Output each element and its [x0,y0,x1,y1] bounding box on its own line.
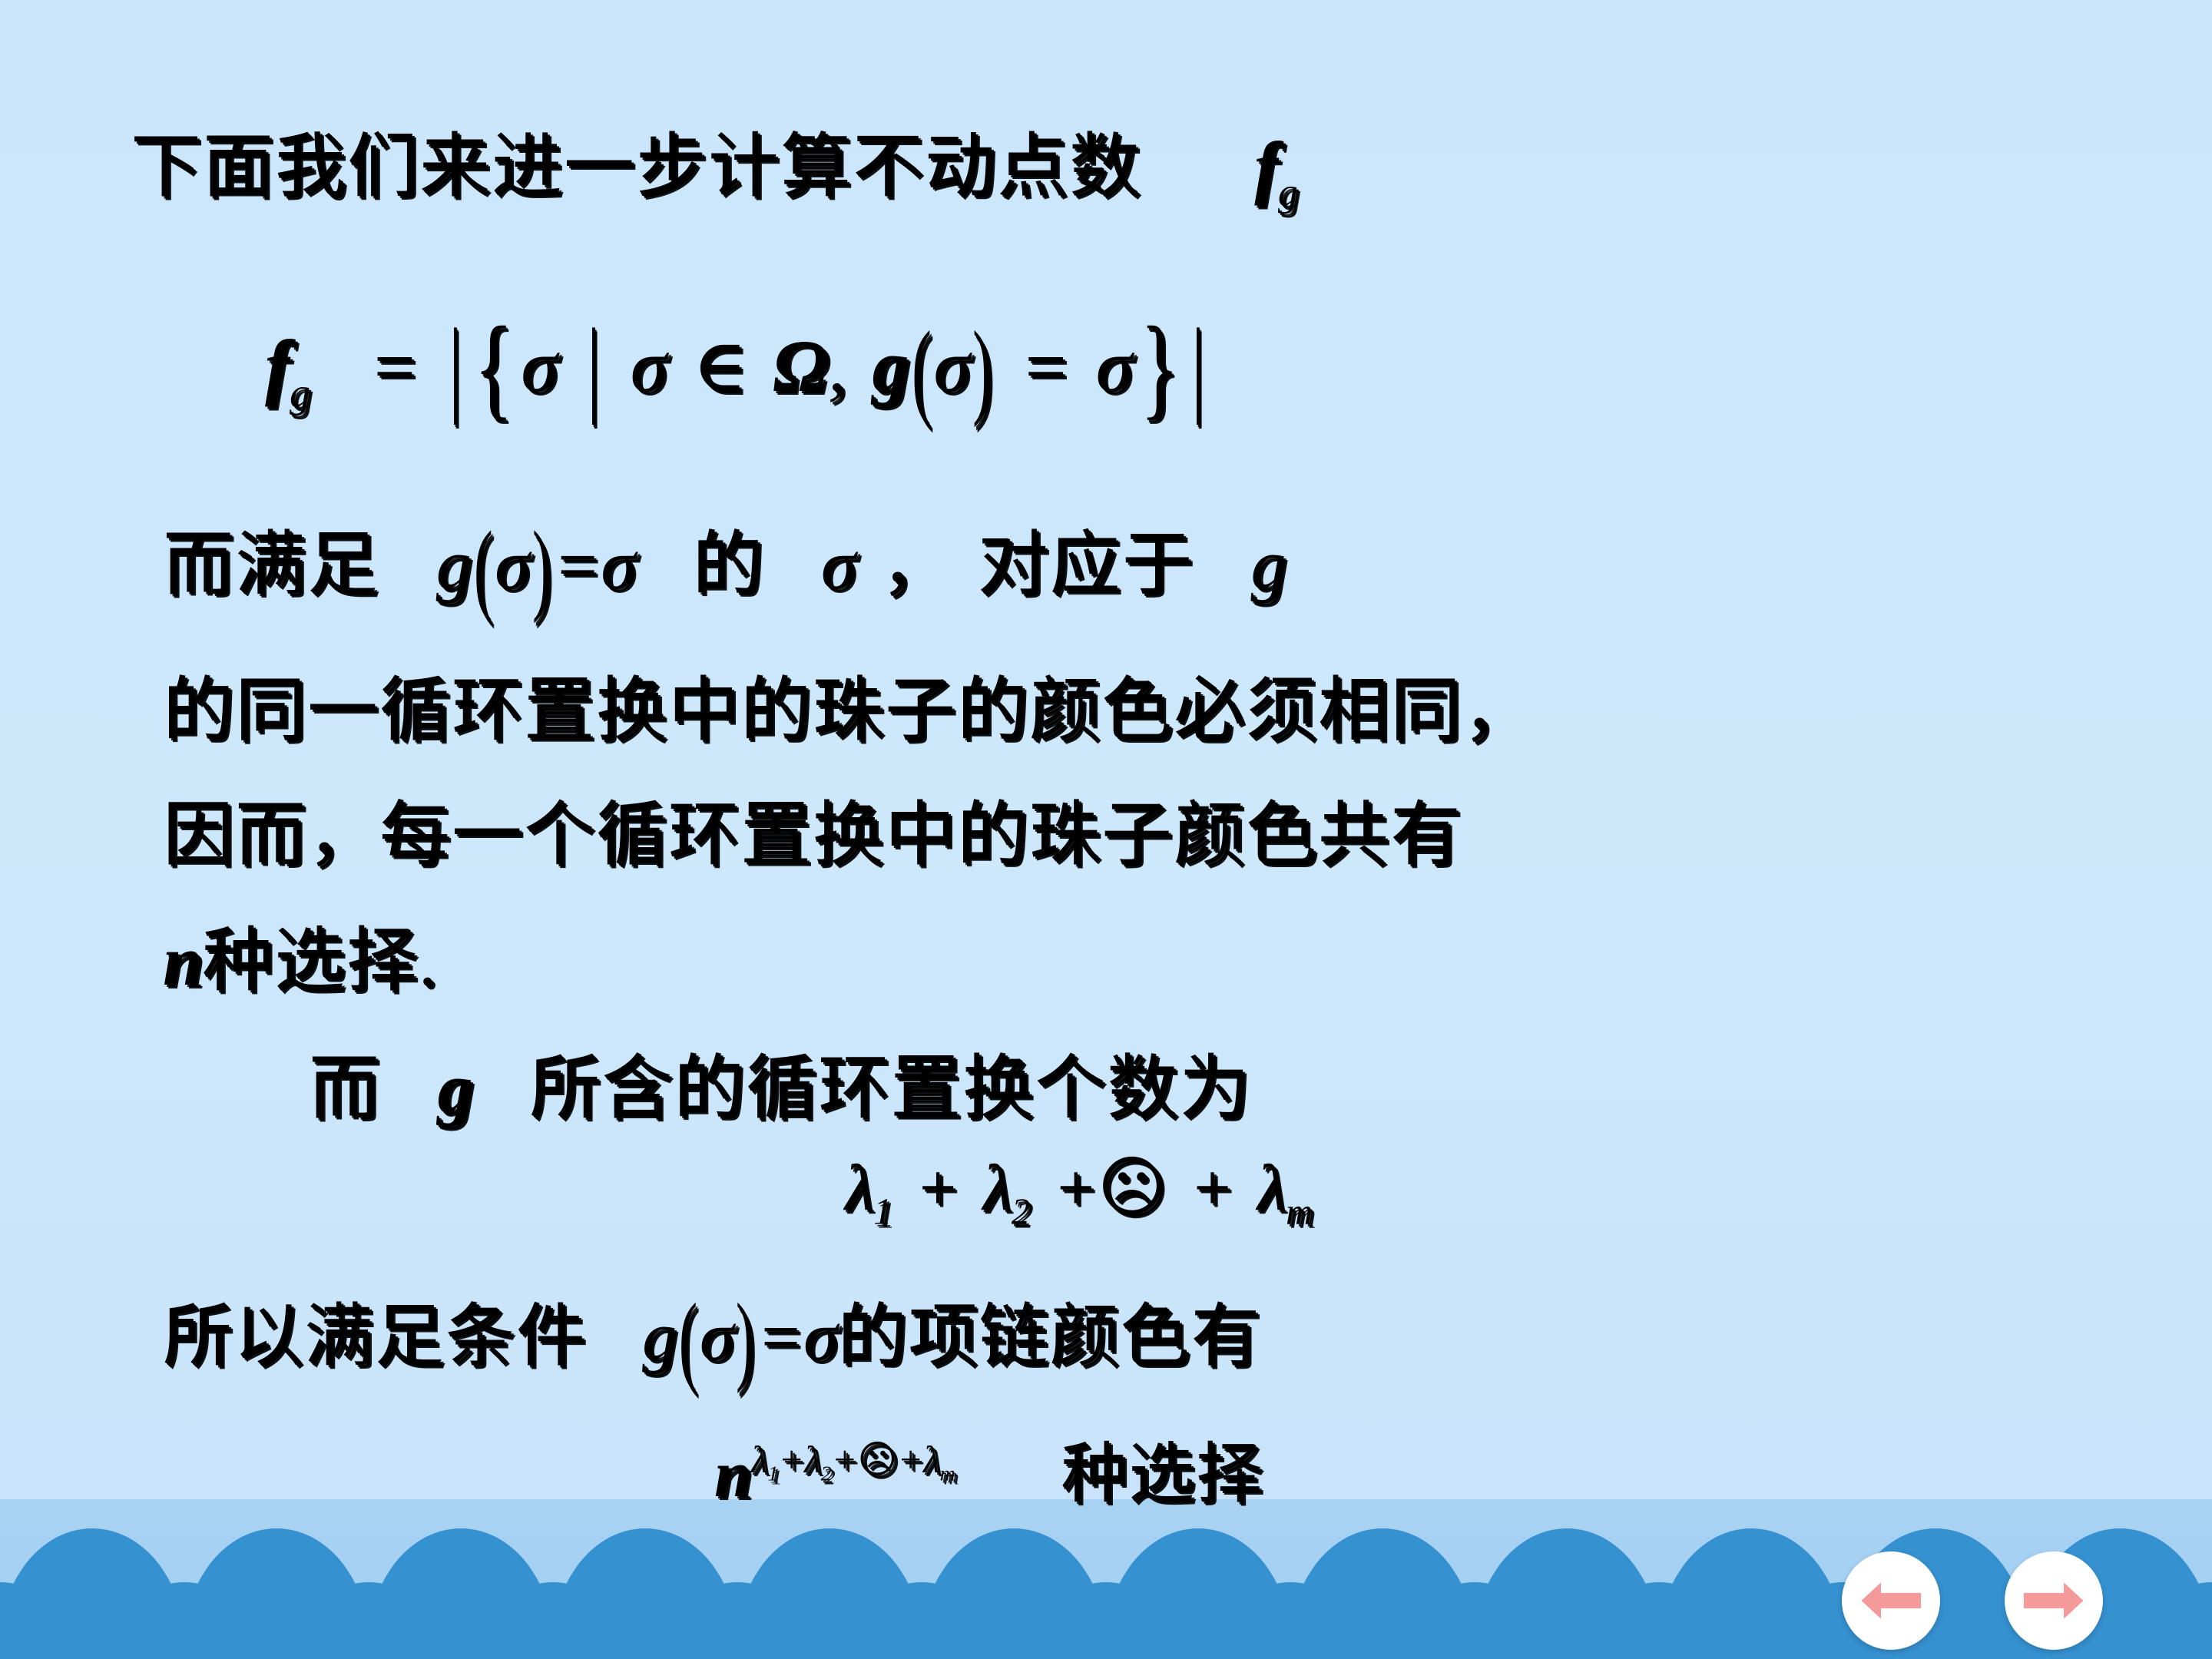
exp-plus-1: + [778,1439,804,1481]
plus-sign-3: + [1190,1151,1234,1224]
condition-prefix: 而满足 [163,525,379,604]
left-arrow-icon [1859,1578,1923,1623]
sigma-1: σ [700,1299,733,1375]
n-choices-text: 种选择. [202,922,438,1000]
exp-lambda-1-subscript: 1 [767,1462,778,1486]
text-line-necklace-colors: 所以满足条件g(σ)=σ的项链颜色有 [163,1280,1261,1379]
function-g-2: g [1250,525,1286,604]
exp-lambda-2: λ [804,1439,821,1481]
sigma-3: σ [934,325,970,407]
paren-open: ( [912,306,932,430]
set-brace-open: { [474,301,513,432]
omega-symbol: Ω [773,325,828,407]
exp-plus-3: + [897,1439,923,1481]
particle-de: 的 [692,525,764,604]
element-of-sign: ∈ [693,325,747,407]
paren-close: ) [736,1282,754,1396]
next-slide-button[interactable] [2005,1551,2103,1650]
sigma-1: σ [521,325,557,407]
text-line-intro: 下面我们来进一步计算不动点数fg [131,109,1298,216]
paren-open: ( [474,508,493,626]
exp-ellipsis-sadface-glyph: ☹ [857,1437,897,1482]
text-line-n-choices: n种选择. [163,903,438,1005]
symbol-g: g [438,1049,473,1128]
equals-sign: = [369,325,419,407]
plus-sign-1: + [915,1151,959,1224]
necklace-prefix: 所以满足条件 [163,1299,587,1375]
cycle-count-prefix: 而 [309,1049,381,1128]
cardinality-bar-close: | [1192,305,1204,428]
symbol-n-base: n [714,1437,751,1511]
text-line-cycle-count: 而g所含的循环置换个数为 [309,1031,1251,1133]
paren-open: ( [679,1282,697,1396]
text-line-therefore: 因而，每一个循环置换中的珠子颜色共有 [163,777,1462,879]
sigma-1: σ [495,525,529,604]
paren-close: ) [532,508,551,626]
paren-close: ) [972,306,992,430]
formula-f-subscript: g [290,370,310,416]
exp-lambda-m-subscript: m [940,1462,955,1486]
text-line-same-cycle: 的同一循环置换中的珠子的颜色必须相同， [163,653,1535,755]
such-that-bar: | [588,305,600,428]
equals-sign: = [553,525,601,604]
equals-sign: = [757,1299,803,1375]
exp-plus-2: + [832,1439,858,1481]
previous-slide-button[interactable] [1842,1551,1940,1650]
function-g: g [873,325,909,407]
same-cycle-text: 的同一循环置换中的珠子的颜色必须相同， [163,671,1535,750]
exponent-group: λ1+λ2+☹+λm [751,1439,955,1481]
formula-fixed-point-count: fg=|{σ|σ∈Ω,g(σ)=σ}| [265,301,1208,432]
set-brace-close: } [1140,301,1179,432]
lambda-2-subscript: 2 [1012,1191,1030,1232]
slide-content: 下面我们来进一步计算不动点数fg fg=|{σ|σ∈Ω,g(σ)=σ}| 而满足… [0,0,2212,1659]
equals-sign-2: = [1020,325,1070,407]
right-arrow-icon [2022,1578,2086,1623]
sigma-3: σ [821,525,856,604]
comma-separator: , [828,325,846,407]
choices-text: 种选择 [1061,1437,1263,1511]
formula-f: f [265,325,290,407]
cycle-count-suffix: 所含的循环置换个数为 [529,1049,1251,1128]
lambda-m-subscript: m [1286,1191,1313,1232]
presentation-slide: 下面我们来进一步计算不动点数fg fg=|{σ|σ∈Ω,g(σ)=σ}| 而满足… [0,0,2212,1659]
function-g: g [642,1299,677,1375]
function-g: g [436,525,472,604]
corresponds-to-text: 对应于 [978,525,1194,604]
comma: ， [881,525,953,604]
sigma-2: σ [803,1299,837,1375]
symbol-f: f [1254,127,1278,206]
exp-lambda-m: λ [923,1439,940,1481]
lambda-2: λ [983,1151,1012,1224]
exp-lambda-2-subscript: 2 [821,1462,832,1486]
plus-sign-2: + [1053,1151,1098,1224]
text-line-condition: 而满足g(σ)=σ的σ，对应于g [163,507,1286,609]
intro-text: 下面我们来进一步计算不动点数 [131,127,1141,206]
symbol-f-subscript: g [1278,171,1298,215]
ellipsis-sadface-glyph: ☹ [1098,1149,1167,1226]
necklace-suffix: 的项链颜色有 [837,1299,1261,1375]
formula-lambda-sum: λ1+λ2+☹+λm [845,1149,1313,1233]
formula-n-power-lambda-sum: nλ1+λ2+☹+λm种选择 [714,1419,1263,1515]
lambda-m: λ [1257,1151,1286,1224]
therefore-text: 因而，每一个循环置换中的珠子颜色共有 [163,796,1462,874]
lambda-1: λ [845,1151,873,1224]
sigma-2: σ [601,525,635,604]
exp-lambda-1: λ [751,1439,768,1481]
symbol-n: n [163,922,202,1000]
sigma-2: σ [631,325,667,407]
lambda-1-subscript: 1 [873,1191,892,1232]
sigma-4: σ [1096,325,1132,407]
cardinality-bar-open: | [449,305,461,428]
